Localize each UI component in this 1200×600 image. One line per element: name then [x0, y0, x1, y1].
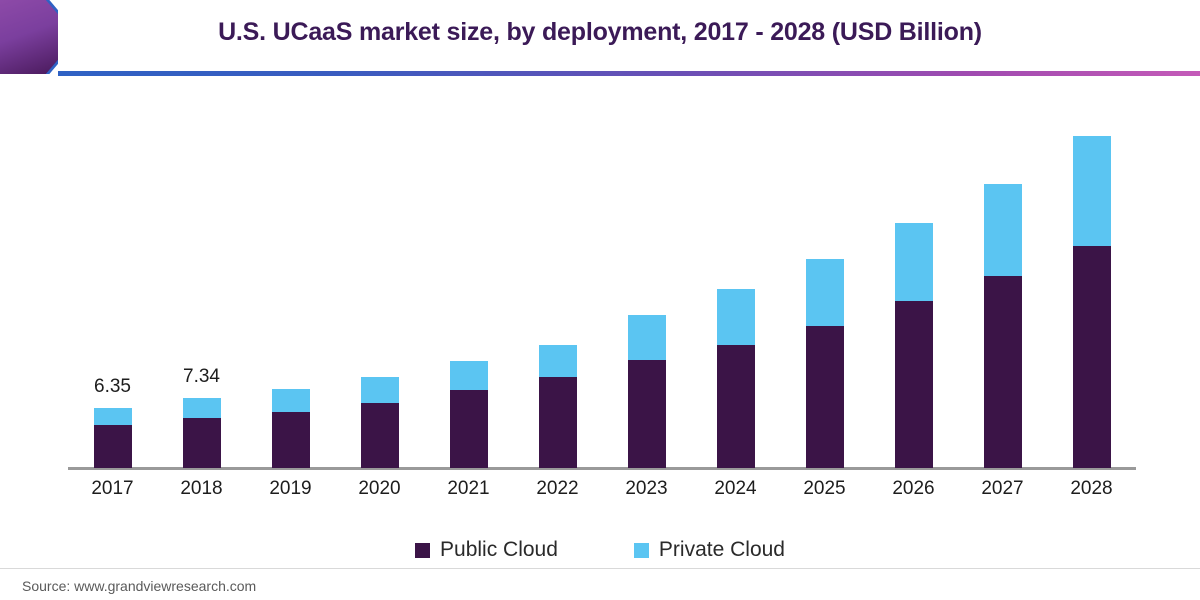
- x-axis-tick-2028: 2028: [1047, 478, 1137, 500]
- bar-segment-public-cloud-2027[interactable]: [984, 276, 1022, 468]
- bar-group-2024[interactable]: [717, 289, 755, 468]
- x-axis-tick-2017: 2017: [68, 478, 158, 500]
- x-axis-tick-2027: 2027: [958, 478, 1048, 500]
- source-caption: Source: www.grandviewresearch.com: [22, 578, 256, 594]
- bar-group-2021[interactable]: [450, 361, 488, 468]
- x-axis-tick-2023: 2023: [602, 478, 692, 500]
- legend-swatch-icon: [634, 543, 649, 558]
- bar-group-2018[interactable]: 7.34: [183, 398, 221, 468]
- chart-legend: Public CloudPrivate Cloud: [0, 538, 1200, 562]
- chart-page: U.S. UCaaS market size, by deployment, 2…: [0, 0, 1200, 600]
- bar-segment-private-cloud-2021[interactable]: [450, 361, 488, 390]
- x-axis-tick-2024: 2024: [691, 478, 781, 500]
- bar-segment-public-cloud-2019[interactable]: [272, 412, 310, 468]
- legend-label: Private Cloud: [659, 538, 785, 562]
- bar-segment-public-cloud-2020[interactable]: [361, 403, 399, 468]
- bar-segment-private-cloud-2022[interactable]: [539, 345, 577, 377]
- bar-segment-public-cloud-2022[interactable]: [539, 377, 577, 468]
- bar-group-2019[interactable]: [272, 389, 310, 468]
- bar-segment-public-cloud-2021[interactable]: [450, 390, 488, 468]
- bar-segment-public-cloud-2024[interactable]: [717, 345, 755, 468]
- legend-item-public-cloud[interactable]: Public Cloud: [415, 538, 558, 562]
- bar-segment-private-cloud-2027[interactable]: [984, 184, 1022, 276]
- chart-plot-area: 6.3520177.342018201920202021202220232024…: [0, 0, 1200, 600]
- legend-item-private-cloud[interactable]: Private Cloud: [634, 538, 785, 562]
- bar-group-2028[interactable]: [1073, 136, 1111, 468]
- bar-group-2020[interactable]: [361, 377, 399, 468]
- bar-segment-public-cloud-2023[interactable]: [628, 360, 666, 468]
- bar-group-2023[interactable]: [628, 315, 666, 468]
- bar-group-2027[interactable]: [984, 184, 1022, 468]
- footer-divider: [0, 568, 1200, 569]
- bar-segment-private-cloud-2019[interactable]: [272, 389, 310, 412]
- bar-segment-private-cloud-2024[interactable]: [717, 289, 755, 345]
- bar-segment-private-cloud-2023[interactable]: [628, 315, 666, 360]
- bar-segment-public-cloud-2017[interactable]: [94, 425, 132, 468]
- bar-group-2022[interactable]: [539, 345, 577, 468]
- x-axis-tick-2026: 2026: [869, 478, 959, 500]
- bar-group-2017[interactable]: 6.35: [94, 408, 132, 468]
- bar-group-2025[interactable]: [806, 259, 844, 468]
- bar-segment-public-cloud-2028[interactable]: [1073, 246, 1111, 468]
- bar-segment-private-cloud-2025[interactable]: [806, 259, 844, 326]
- x-axis-tick-2025: 2025: [780, 478, 870, 500]
- x-axis-tick-2019: 2019: [246, 478, 336, 500]
- x-axis-tick-2021: 2021: [424, 478, 514, 500]
- bar-segment-private-cloud-2017[interactable]: [94, 408, 132, 425]
- bar-segment-public-cloud-2018[interactable]: [183, 418, 221, 468]
- bar-value-label-2017: 6.35: [94, 376, 131, 398]
- legend-label: Public Cloud: [440, 538, 558, 562]
- x-axis-tick-2022: 2022: [513, 478, 603, 500]
- bar-segment-private-cloud-2018[interactable]: [183, 398, 221, 418]
- bar-value-label-2018: 7.34: [183, 366, 220, 388]
- legend-swatch-icon: [415, 543, 430, 558]
- x-axis-line: [68, 467, 1136, 470]
- bar-segment-public-cloud-2025[interactable]: [806, 326, 844, 468]
- bar-segment-public-cloud-2026[interactable]: [895, 301, 933, 468]
- x-axis-tick-2018: 2018: [157, 478, 247, 500]
- bar-group-2026[interactable]: [895, 223, 933, 468]
- bar-segment-private-cloud-2020[interactable]: [361, 377, 399, 403]
- x-axis-tick-2020: 2020: [335, 478, 425, 500]
- bar-segment-private-cloud-2026[interactable]: [895, 223, 933, 301]
- bar-segment-private-cloud-2028[interactable]: [1073, 136, 1111, 246]
